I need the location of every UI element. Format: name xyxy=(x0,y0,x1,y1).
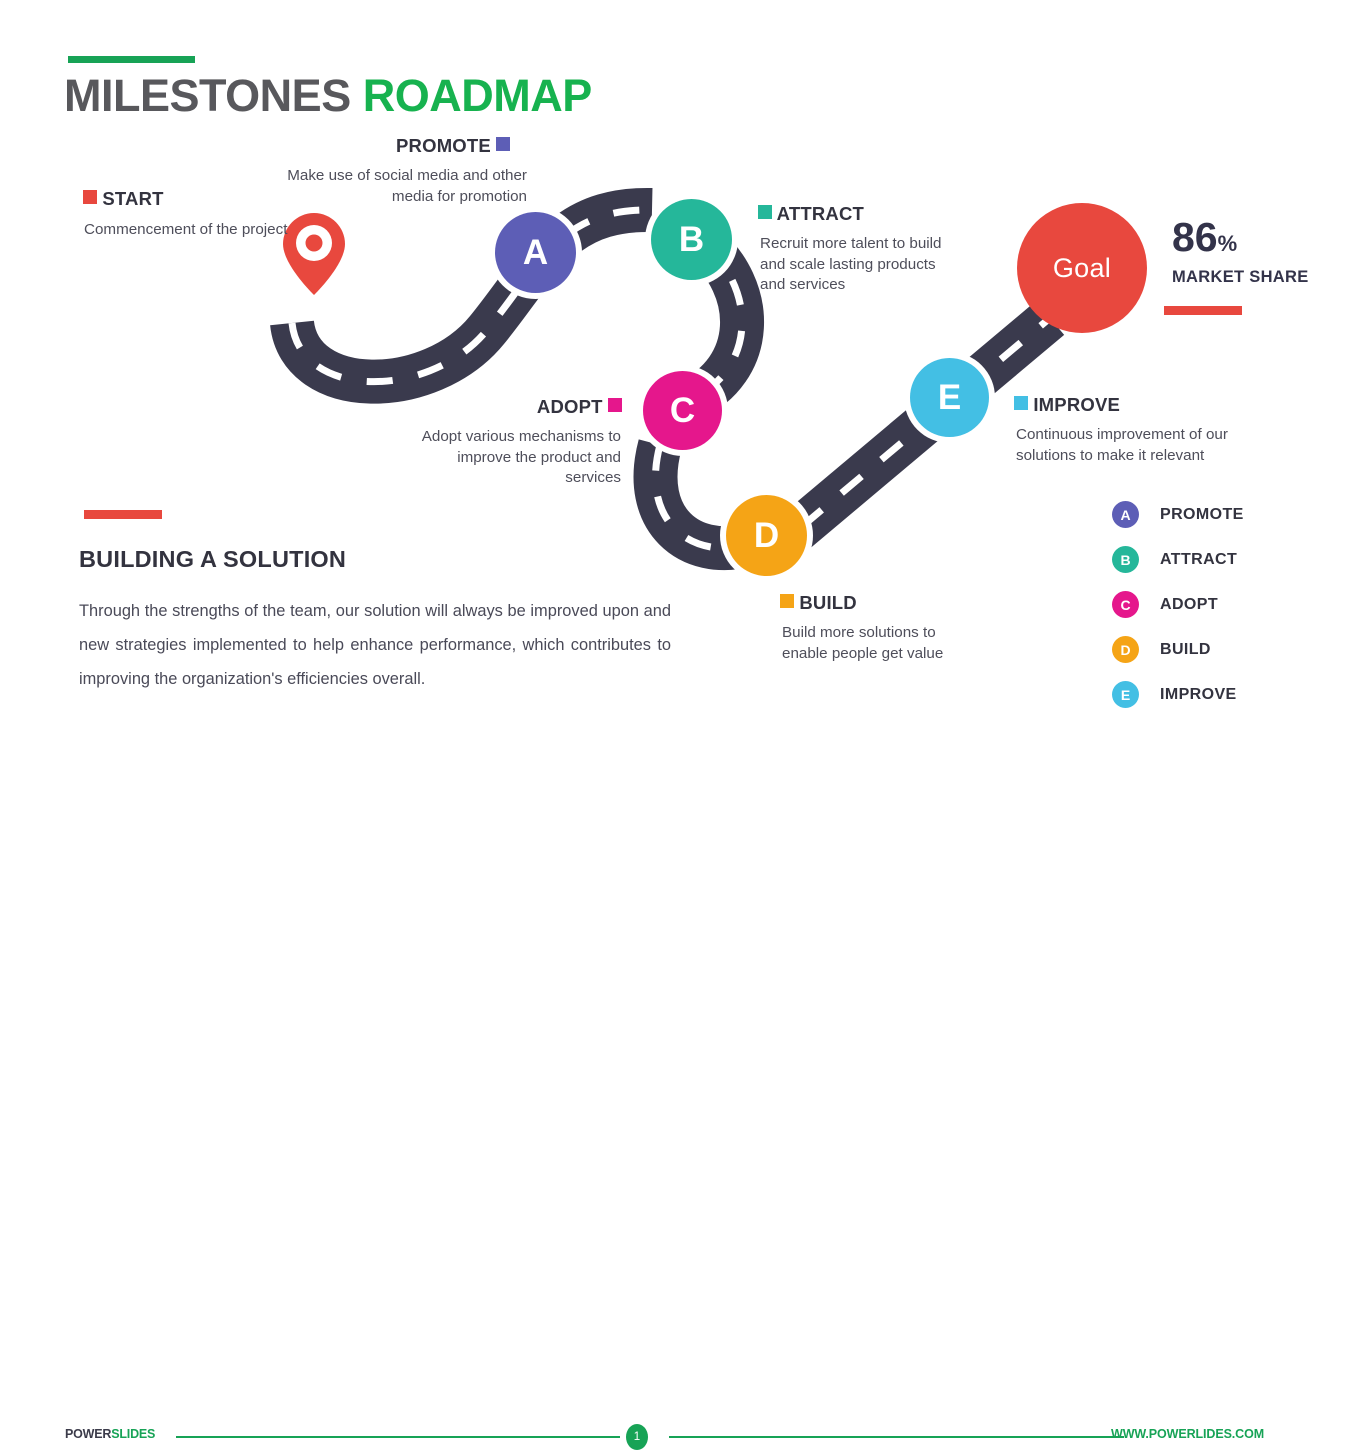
node-d-letter: D xyxy=(754,516,779,556)
milestone-label-promote: PROMOTE xyxy=(396,135,510,157)
footer-divider-left xyxy=(176,1436,620,1438)
legend-dot-a-letter: A xyxy=(1120,507,1130,523)
node-b-letter: B xyxy=(679,220,704,260)
legend-dot-e: E xyxy=(1112,681,1139,708)
improve-label-text: IMPROVE xyxy=(1033,394,1120,415)
market-share-stat: 86% MARKET SHARE xyxy=(1172,215,1322,287)
milestone-label-attract: ATTRACT xyxy=(758,203,864,225)
start-label-text: START xyxy=(102,188,163,209)
brand-logo: POWERSLIDES xyxy=(65,1427,155,1441)
adopt-label-text: ADOPT xyxy=(537,396,603,417)
goal-circle[interactable]: Goal xyxy=(1017,203,1147,333)
milestone-desc-build: Build more solutions to enable people ge… xyxy=(782,623,982,664)
legend-dot-a: A xyxy=(1112,501,1139,528)
milestone-label-adopt: ADOPT xyxy=(430,396,622,418)
stat-unit: % xyxy=(1218,231,1238,256)
stat-number: 86 xyxy=(1172,214,1218,260)
build-bullet-square xyxy=(780,594,794,608)
stat-value: 86% xyxy=(1172,215,1322,266)
page-number-badge: 1 xyxy=(626,1424,648,1450)
improve-bullet-square xyxy=(1014,396,1028,410)
legend-dot-c: C xyxy=(1112,591,1139,618)
legend-dot-c-letter: C xyxy=(1120,597,1130,613)
milestone-label-build: BUILD xyxy=(780,592,857,614)
solution-title: BUILDING A SOLUTION xyxy=(79,546,346,573)
stat-underline-bar xyxy=(1164,306,1242,315)
legend-item-improve[interactable]: E IMPROVE xyxy=(1112,672,1244,717)
node-c-letter: C xyxy=(670,391,695,431)
legend-dot-d-letter: D xyxy=(1120,642,1130,658)
footer-divider-right xyxy=(669,1436,1124,1438)
solution-body: Through the strengths of the team, our s… xyxy=(79,594,671,696)
legend-label-adopt: ADOPT xyxy=(1160,596,1218,614)
promote-bullet-square xyxy=(496,137,510,151)
milestone-desc-start: Commencement of the project xyxy=(84,220,299,241)
milestone-node-c[interactable]: C xyxy=(643,371,722,450)
milestone-desc-improve: Continuous improvement of our solutions … xyxy=(1016,425,1238,466)
milestone-label-start: START xyxy=(83,188,164,210)
node-a-letter: A xyxy=(523,233,548,273)
legend-item-adopt[interactable]: C ADOPT xyxy=(1112,582,1244,627)
legend-dot-b: B xyxy=(1112,546,1139,573)
legend-label-build: BUILD xyxy=(1160,641,1211,659)
brand-part-1: POWER xyxy=(65,1427,111,1441)
legend-label-promote: PROMOTE xyxy=(1160,506,1244,524)
stat-caption: MARKET SHARE xyxy=(1172,268,1322,287)
build-label-text: BUILD xyxy=(799,592,857,613)
brand-part-2: SLIDES xyxy=(111,1427,155,1441)
milestone-desc-adopt: Adopt various mechanisms to improve the … xyxy=(398,427,621,489)
milestone-label-improve: IMPROVE xyxy=(1014,394,1120,416)
footer-url[interactable]: WWW.POWERLIDES.COM xyxy=(1111,1427,1264,1441)
milestone-node-d[interactable]: D xyxy=(726,495,807,576)
slide-footer: POWERSLIDES 1 WWW.POWERLIDES.COM xyxy=(0,712,1365,752)
milestone-node-e[interactable]: E xyxy=(910,358,989,437)
legend-item-attract[interactable]: B ATTRACT xyxy=(1112,537,1244,582)
attract-label-text: ATTRACT xyxy=(777,203,864,224)
legend-label-attract: ATTRACT xyxy=(1160,551,1237,569)
attract-bullet-square xyxy=(758,205,772,219)
solution-accent-bar xyxy=(84,510,162,519)
legend-dot-e-letter: E xyxy=(1121,687,1130,703)
milestone-desc-promote: Make use of social media and other media… xyxy=(285,166,527,207)
milestone-legend: A PROMOTE B ATTRACT C ADOPT D BUILD E IM… xyxy=(1112,492,1244,717)
legend-item-build[interactable]: D BUILD xyxy=(1112,627,1244,672)
legend-label-improve: IMPROVE xyxy=(1160,686,1237,704)
slide-canvas: MILESTONES ROADMAP A B C D E xyxy=(0,0,1365,767)
node-e-letter: E xyxy=(938,378,961,418)
start-bullet-square xyxy=(83,190,97,204)
milestone-node-a[interactable]: A xyxy=(495,212,576,293)
promote-label-text: PROMOTE xyxy=(396,135,491,156)
legend-dot-d: D xyxy=(1112,636,1139,663)
legend-dot-b-letter: B xyxy=(1120,552,1130,568)
adopt-bullet-square xyxy=(608,398,622,412)
legend-item-promote[interactable]: A PROMOTE xyxy=(1112,492,1244,537)
milestone-node-b[interactable]: B xyxy=(651,199,732,280)
goal-label: Goal xyxy=(1053,253,1111,284)
milestone-desc-attract: Recruit more talent to build and scale l… xyxy=(760,234,945,296)
